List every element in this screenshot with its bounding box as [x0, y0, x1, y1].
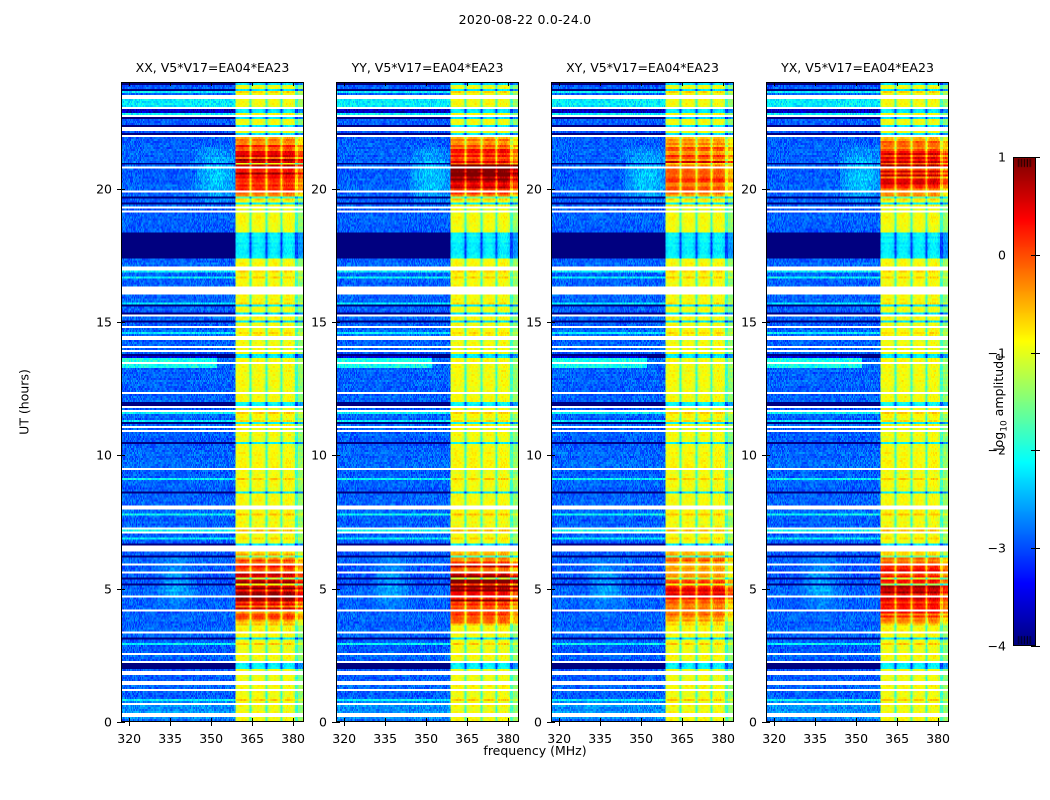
y-tick-label: 10 — [741, 448, 757, 463]
y-tick-inner — [766, 189, 770, 190]
x-tick — [467, 722, 468, 726]
x-tick-top — [508, 82, 509, 86]
y-tick-inner — [551, 189, 555, 190]
x-tick-bottom — [170, 718, 171, 722]
y-tick-inner — [121, 322, 125, 323]
x-tick-top — [682, 82, 683, 86]
panel-title-xy: XY, V5*V17=EA04*EA23 — [566, 60, 719, 75]
colorbar-tick-label: 1 — [998, 150, 1006, 165]
x-tick-label: 350 — [414, 731, 438, 746]
x-tick-top — [293, 82, 294, 86]
y-tick-inner — [121, 589, 125, 590]
y-tick-label: 15 — [741, 315, 757, 330]
colorbar-label-suffix: amplitude — [991, 353, 1006, 420]
y-tick-inner — [336, 189, 340, 190]
x-tick — [682, 722, 683, 726]
heatmap-yx[interactable] — [766, 82, 949, 722]
colorbar-label-subscript: 10 — [999, 420, 1009, 431]
x-tick-bottom — [641, 718, 642, 722]
y-tick-inner — [766, 455, 770, 456]
colorbar-gradient — [1013, 157, 1036, 646]
colorbar-tick-inner — [1031, 548, 1036, 549]
x-tick — [129, 722, 130, 726]
y-tick-label: 20 — [96, 181, 112, 196]
colorbar[interactable] — [1013, 157, 1036, 646]
x-tick-bottom — [385, 718, 386, 722]
x-tick-top — [641, 82, 642, 86]
colorbar-tick-label: −3 — [988, 541, 1006, 556]
colorbar-label-prefix: log — [991, 432, 1006, 451]
colorbar-label-text: log10 amplitude — [991, 353, 1006, 451]
x-tick-bottom — [723, 718, 724, 722]
x-tick-label: 335 — [158, 731, 182, 746]
y-tick-inner — [336, 455, 340, 456]
x-tick-label: 365 — [455, 731, 479, 746]
y-tick-label: 5 — [104, 581, 112, 596]
x-tick-top — [600, 82, 601, 86]
heatmap-image-yx — [767, 83, 948, 721]
x-tick — [170, 722, 171, 726]
x-tick-top — [170, 82, 171, 86]
x-tick-top — [426, 82, 427, 86]
colorbar-tick-inner — [1031, 353, 1036, 354]
x-tick — [385, 722, 386, 726]
x-tick-bottom — [774, 718, 775, 722]
y-tick-inner — [336, 722, 340, 723]
y-tick-label: 10 — [96, 448, 112, 463]
heatmap-image-yy — [337, 83, 518, 721]
colorbar-tick — [1036, 548, 1040, 549]
y-tick-label: 15 — [311, 315, 327, 330]
x-tick — [344, 722, 345, 726]
figure-canvas: 2020-08-22 0.0-24.0 XX, V5*V17=EA04*EA23… — [0, 0, 1050, 800]
x-tick-top — [815, 82, 816, 86]
y-tick-inner — [336, 589, 340, 590]
x-tick-label: 335 — [588, 731, 612, 746]
x-tick-bottom — [129, 718, 130, 722]
x-tick-top — [774, 82, 775, 86]
colorbar-tick — [1036, 646, 1040, 647]
y-tick-label: 0 — [104, 715, 112, 730]
heatmap-image-xx — [122, 83, 303, 721]
x-tick-bottom — [600, 718, 601, 722]
x-tick-top — [897, 82, 898, 86]
x-tick-label: 335 — [373, 731, 397, 746]
y-tick-label: 0 — [534, 715, 542, 730]
colorbar-tick-label: −4 — [988, 639, 1006, 654]
x-tick — [293, 722, 294, 726]
x-tick-bottom — [897, 718, 898, 722]
y-tick-inner — [551, 589, 555, 590]
x-tick — [211, 722, 212, 726]
x-tick — [252, 722, 253, 726]
x-tick — [508, 722, 509, 726]
x-tick — [815, 722, 816, 726]
x-tick — [600, 722, 601, 726]
y-tick-label: 20 — [311, 181, 327, 196]
x-tick-label: 350 — [199, 731, 223, 746]
x-axis-label: frequency (MHz) — [483, 743, 586, 758]
y-tick-label: 20 — [741, 181, 757, 196]
colorbar-tick-inner — [1031, 157, 1036, 158]
y-tick-inner — [121, 189, 125, 190]
x-tick-label: 320 — [117, 731, 141, 746]
panel-title-yy: YY, V5*V17=EA04*EA23 — [352, 60, 504, 75]
x-tick — [774, 722, 775, 726]
y-tick-inner — [336, 322, 340, 323]
x-tick-label: 365 — [240, 731, 264, 746]
x-tick-top — [252, 82, 253, 86]
x-tick-label: 380 — [281, 731, 305, 746]
x-tick-label: 380 — [711, 731, 735, 746]
x-tick-bottom — [508, 718, 509, 722]
panel-yx: YX, V5*V17=EA04*EA2332033535036538005101… — [766, 82, 949, 722]
x-tick-bottom — [426, 718, 427, 722]
x-tick-bottom — [682, 718, 683, 722]
colorbar-tick-label: 0 — [998, 247, 1006, 262]
x-tick-label: 365 — [670, 731, 694, 746]
y-tick-inner — [766, 722, 770, 723]
y-tick-label: 5 — [534, 581, 542, 596]
panel-xy: XY, V5*V17=EA04*EA2332033535036538005101… — [551, 82, 734, 722]
y-tick-inner — [766, 322, 770, 323]
x-tick-top — [467, 82, 468, 86]
x-tick-label: 320 — [332, 731, 356, 746]
x-tick-top — [385, 82, 386, 86]
x-tick — [938, 722, 939, 726]
x-tick-top — [129, 82, 130, 86]
colorbar-label: log10 amplitude — [991, 353, 1010, 451]
x-tick-label: 350 — [844, 731, 868, 746]
panel-title-yx: YX, V5*V17=EA04*EA23 — [781, 60, 934, 75]
x-tick-top — [856, 82, 857, 86]
heatmap-xy[interactable] — [551, 82, 734, 722]
y-tick-label: 0 — [749, 715, 757, 730]
y-tick-inner — [551, 455, 555, 456]
heatmap-image-xy — [552, 83, 733, 721]
y-tick-inner — [121, 722, 125, 723]
colorbar-tick-inner — [1031, 450, 1036, 451]
y-tick-label: 20 — [526, 181, 542, 196]
x-tick-top — [344, 82, 345, 86]
x-tick — [641, 722, 642, 726]
colorbar-tick — [1036, 255, 1040, 256]
x-tick-bottom — [815, 718, 816, 722]
y-tick-label: 10 — [526, 448, 542, 463]
panel-title-xx: XX, V5*V17=EA04*EA23 — [136, 60, 290, 75]
figure-suptitle: 2020-08-22 0.0-24.0 — [0, 12, 1050, 27]
x-tick-label: 365 — [885, 731, 909, 746]
y-tick-label: 5 — [319, 581, 327, 596]
x-tick-bottom — [252, 718, 253, 722]
y-tick-label: 5 — [749, 581, 757, 596]
y-tick-inner — [121, 455, 125, 456]
y-tick-label: 15 — [526, 315, 542, 330]
y-tick-inner — [551, 722, 555, 723]
y-axis-label: UT (hours) — [17, 369, 32, 435]
panel-yy: YY, V5*V17=EA04*EA2332033535036538005101… — [336, 82, 519, 722]
x-tick-label: 380 — [926, 731, 950, 746]
x-tick-top — [723, 82, 724, 86]
panel-xx: XX, V5*V17=EA04*EA2332033535036538005101… — [121, 82, 304, 722]
colorbar-tick-inner — [1031, 646, 1036, 647]
x-tick-top — [559, 82, 560, 86]
colorbar-tick — [1036, 353, 1040, 354]
x-tick — [856, 722, 857, 726]
x-tick-bottom — [293, 718, 294, 722]
x-tick — [897, 722, 898, 726]
x-tick-top — [938, 82, 939, 86]
heatmap-yy[interactable] — [336, 82, 519, 722]
x-tick-bottom — [856, 718, 857, 722]
x-tick-bottom — [211, 718, 212, 722]
y-tick-label: 10 — [311, 448, 327, 463]
x-tick-top — [211, 82, 212, 86]
y-tick-label: 15 — [96, 315, 112, 330]
x-tick-bottom — [938, 718, 939, 722]
colorbar-tick — [1036, 450, 1040, 451]
y-tick-label: 0 — [319, 715, 327, 730]
colorbar-tick — [1036, 157, 1040, 158]
x-tick-label: 335 — [803, 731, 827, 746]
y-tick-inner — [766, 589, 770, 590]
x-tick — [559, 722, 560, 726]
x-tick — [426, 722, 427, 726]
x-tick-label: 320 — [762, 731, 786, 746]
heatmap-xx[interactable] — [121, 82, 304, 722]
y-tick-inner — [551, 322, 555, 323]
x-tick-bottom — [559, 718, 560, 722]
colorbar-tick-inner — [1031, 255, 1036, 256]
x-tick-label: 350 — [629, 731, 653, 746]
x-tick — [723, 722, 724, 726]
x-tick-bottom — [467, 718, 468, 722]
x-tick-bottom — [344, 718, 345, 722]
